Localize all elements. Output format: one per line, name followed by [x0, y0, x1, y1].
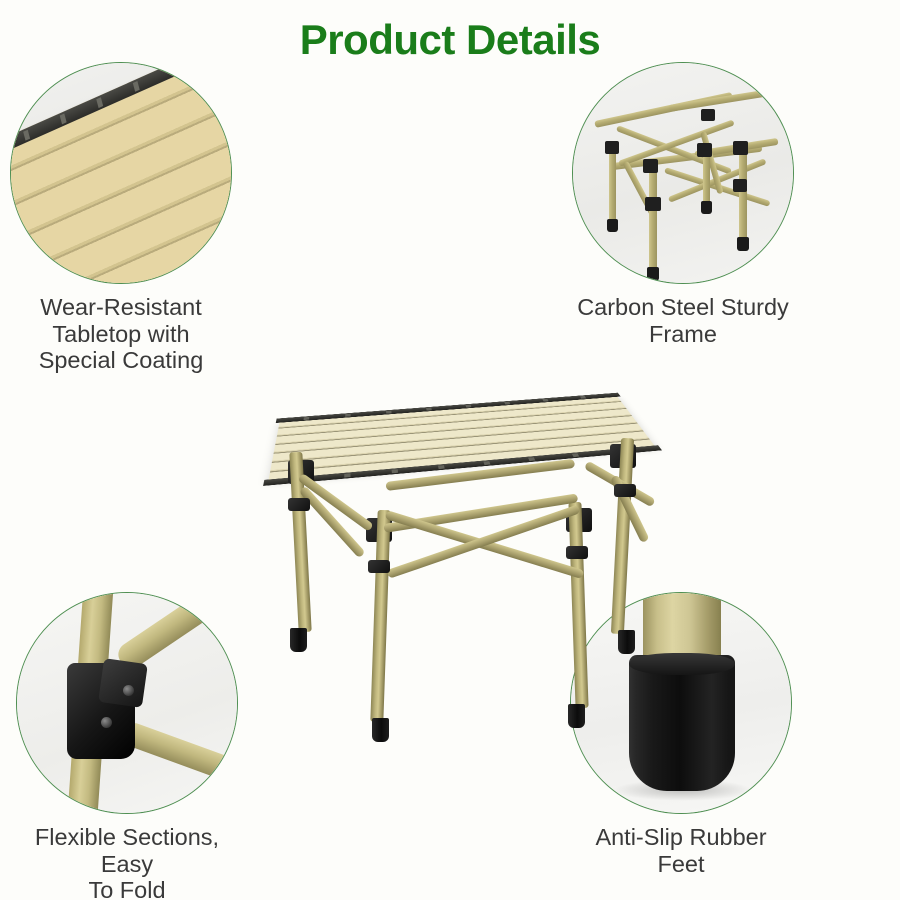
page-title: Product Details	[0, 16, 900, 64]
hinge-screw-lower	[101, 717, 112, 728]
product-foot-front-right	[568, 704, 585, 728]
product-details-infographic: Product Details	[0, 0, 900, 900]
hinge-closeup-illustration	[17, 593, 237, 813]
product-clip-rear-right	[614, 484, 636, 497]
product-clip-front-left	[368, 560, 390, 573]
frame-leg-1	[609, 149, 616, 223]
product-foot-front-left	[372, 718, 389, 742]
frame-leg-3	[703, 155, 710, 205]
frame-foot-2	[647, 267, 659, 281]
feature-sections: Flexible Sections, Easy To Fold	[12, 592, 242, 900]
feature-tabletop: Wear-Resistant Tabletop with Special Coa…	[6, 62, 236, 374]
product-leg-front-right	[568, 502, 588, 708]
hinge-connector-plate	[98, 658, 148, 708]
feature-sections-caption: Flexible Sections, Easy To Fold	[12, 824, 242, 900]
frame-joint-5	[701, 109, 715, 121]
frame-joint-4	[733, 141, 748, 155]
frame-foot-3	[701, 201, 712, 214]
feature-tabletop-caption: Wear-Resistant Tabletop with Special Coa…	[6, 294, 236, 374]
tabletop-slat-panel	[10, 62, 232, 284]
frame-joint-1	[605, 141, 619, 154]
frame-leg-4	[739, 149, 747, 241]
product-foot-rear-right	[618, 630, 635, 654]
frame-joint-2	[643, 159, 658, 173]
tabletop-closeup-illustration	[11, 63, 231, 283]
feature-sections-circle-image	[16, 592, 238, 814]
frame-leg-2	[649, 163, 657, 271]
feature-frame: Carbon Steel Sturdy Frame	[568, 62, 798, 347]
feature-feet-caption: Anti-Slip Rubber Feet	[566, 824, 796, 877]
frame-foot-1	[607, 219, 618, 232]
hinge-arm-lower	[119, 720, 238, 789]
product-clip-front-right	[566, 546, 588, 559]
frame-joint-7	[733, 179, 747, 192]
frame-joint-6	[645, 197, 661, 211]
steel-frame-illustration	[573, 63, 793, 283]
hinge-screw-upper	[123, 685, 134, 696]
frame-rail-rear-right	[668, 88, 774, 111]
frame-joint-3	[697, 143, 712, 157]
feature-frame-circle-image	[572, 62, 794, 284]
hinge-arm-upper	[114, 592, 238, 673]
frame-foot-4	[737, 237, 749, 251]
product-clip-rear-left	[288, 498, 310, 511]
feature-tabletop-circle-image	[10, 62, 232, 284]
main-product-image	[258, 332, 678, 752]
product-foot-rear-left	[290, 628, 307, 652]
